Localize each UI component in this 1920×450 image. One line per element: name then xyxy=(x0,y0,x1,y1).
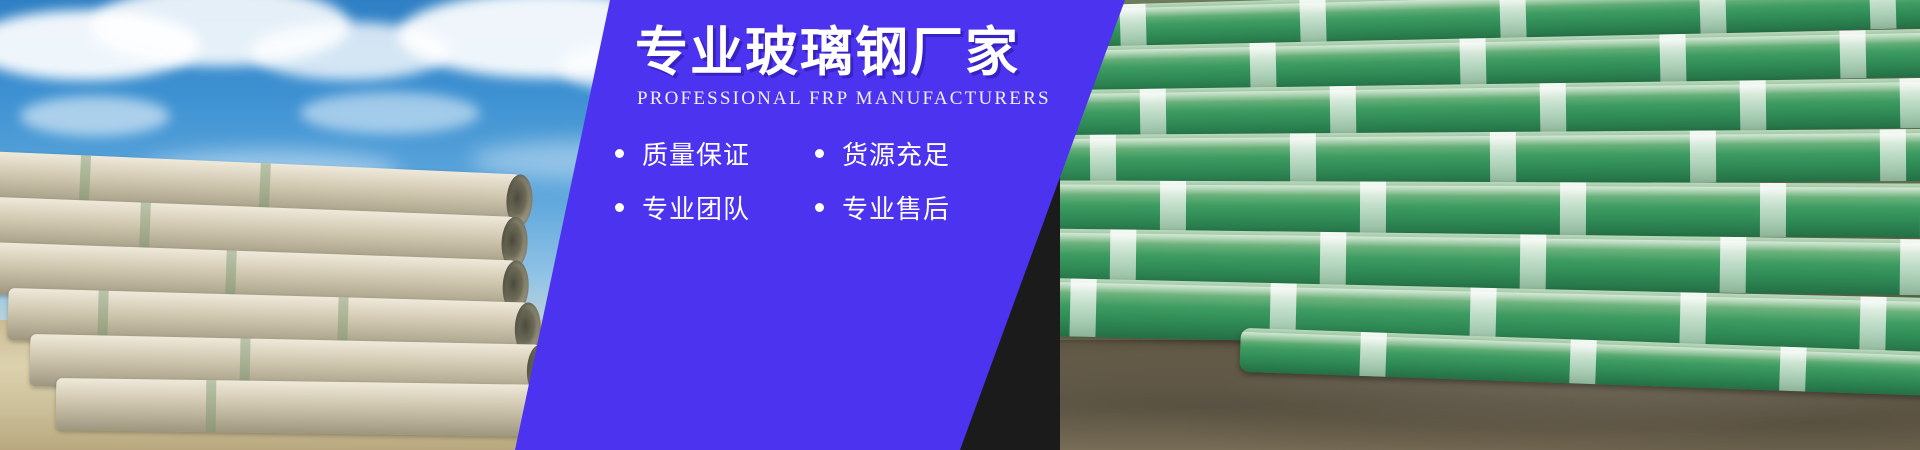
promo-banner: 专业玻璃钢厂家 PROFESSIONAL FRP MANUFACTURERS 质… xyxy=(0,0,1920,450)
feature-label: 货源充足 xyxy=(842,135,950,172)
cloud-shape xyxy=(20,96,170,136)
feature-item-quality: 质量保证 xyxy=(615,135,815,172)
feature-item-supply: 货源充足 xyxy=(815,135,950,172)
feature-list: 质量保证 货源充足 专业团队 专业售后 xyxy=(615,126,1035,234)
feature-label: 专业售后 xyxy=(842,189,950,226)
bullet-dot-icon xyxy=(815,203,824,212)
feature-label: 专业团队 xyxy=(642,189,750,226)
page-title: 专业玻璃钢厂家 xyxy=(635,26,1020,79)
feature-item-aftersales: 专业售后 xyxy=(815,189,950,226)
bullet-dot-icon xyxy=(815,149,824,158)
pipe-shape xyxy=(56,378,557,437)
feature-item-team: 专业团队 xyxy=(615,189,815,226)
bullet-dot-icon xyxy=(615,149,624,158)
green-pipe-shape xyxy=(1060,129,1920,188)
feature-row: 质量保证 货源充足 xyxy=(615,126,1035,180)
panel-content: 专业玻璃钢厂家 PROFESSIONAL FRP MANUFACTURERS 质… xyxy=(615,0,1045,450)
green-frp-pipes-photo xyxy=(1060,0,1920,450)
bullet-dot-icon xyxy=(615,203,624,212)
subtitle: PROFESSIONAL FRP MANUFACTURERS xyxy=(637,88,1051,110)
feature-label: 质量保证 xyxy=(642,135,750,172)
cloud-shape xyxy=(300,92,480,134)
green-pipe-shape xyxy=(1060,180,1920,237)
feature-row: 专业团队 专业售后 xyxy=(615,180,1035,234)
